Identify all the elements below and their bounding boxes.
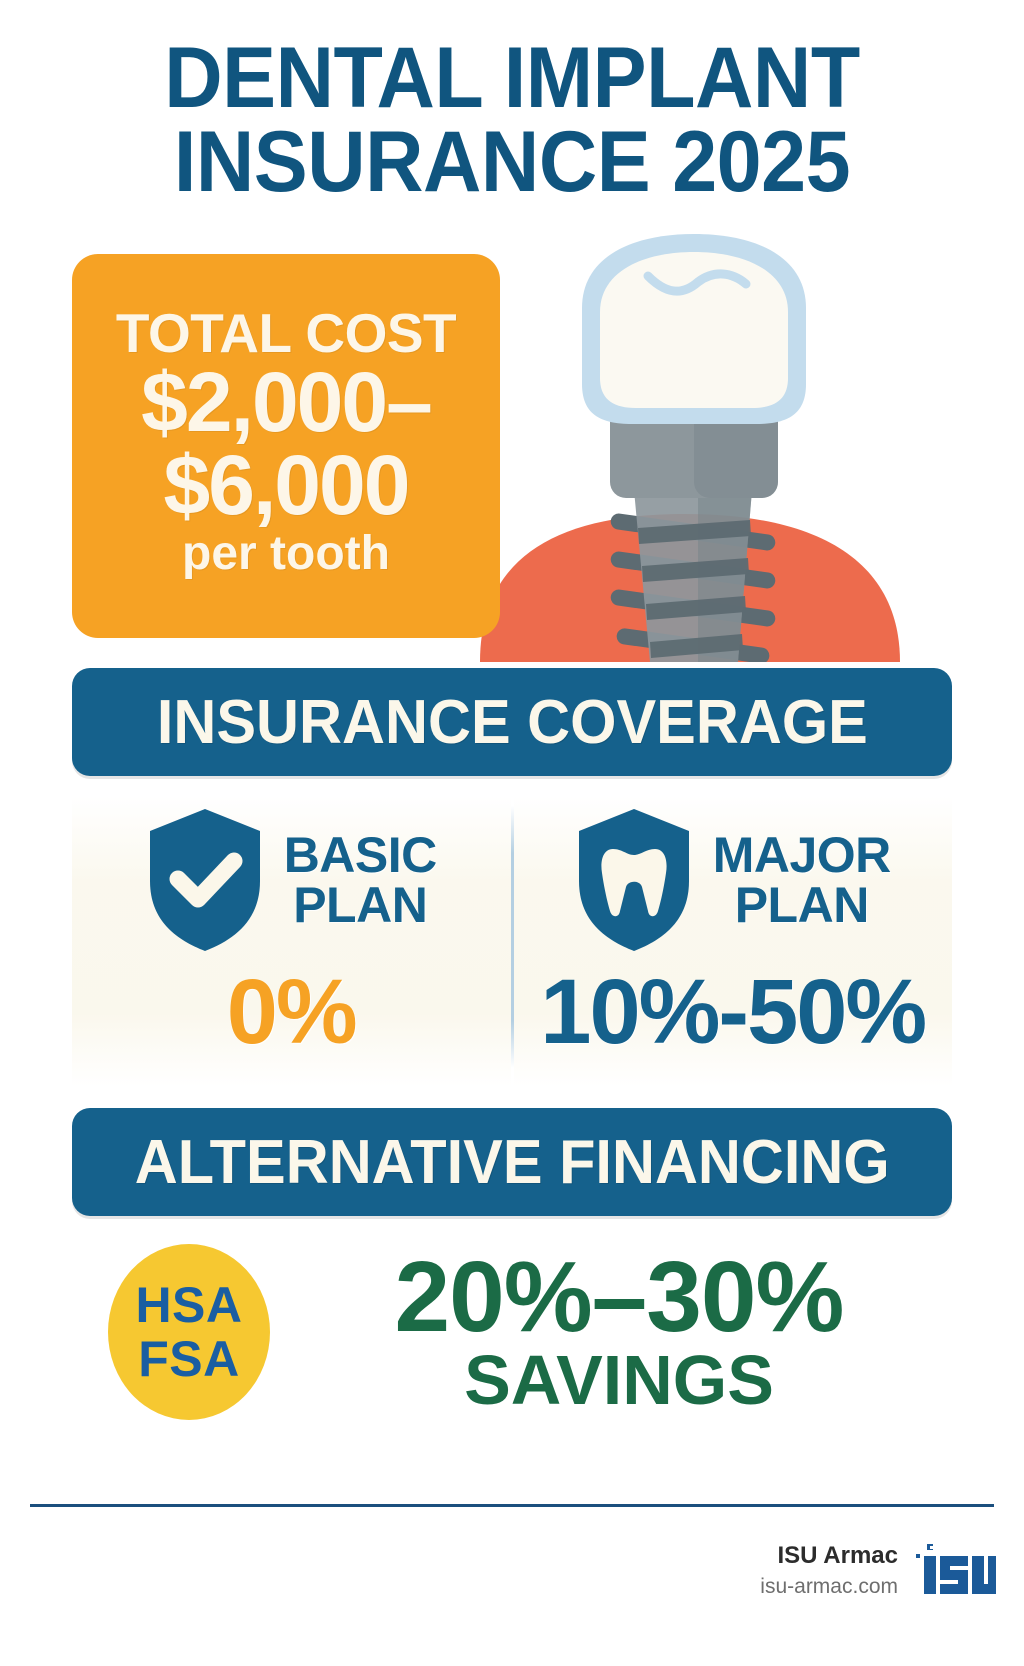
total-cost-label: TOTAL COST bbox=[116, 305, 456, 361]
plan-major-head: MAJOR PLAN bbox=[514, 796, 953, 964]
alternative-financing-banner: ALTERNATIVE FINANCING bbox=[72, 1108, 952, 1216]
shield-check-icon bbox=[146, 807, 264, 953]
shield-tooth-icon bbox=[575, 807, 693, 953]
isu-logo-icon bbox=[914, 1542, 998, 1598]
page-title: DENTAL IMPLANT INSURANCE 2025 bbox=[0, 36, 1024, 205]
savings-block: 20%–30% SAVINGS bbox=[286, 1249, 952, 1415]
financing-section: HSA FSA 20%–30% SAVINGS bbox=[72, 1232, 952, 1432]
plan-basic-name: BASIC PLAN bbox=[284, 830, 437, 930]
plan-major-value: 10%-50% bbox=[540, 966, 925, 1058]
total-cost-range-line-2: $6,000 bbox=[164, 444, 409, 526]
footer-website[interactable]: isu-armac.com bbox=[760, 1572, 898, 1602]
title-line-2: INSURANCE 2025 bbox=[31, 120, 994, 204]
savings-range: 20%–30% bbox=[395, 1249, 844, 1345]
implant-svg bbox=[470, 232, 910, 662]
dental-implant-illustration bbox=[470, 232, 910, 662]
footer: ISU Armac isu-armac.com bbox=[0, 1528, 1024, 1648]
title-line-1: DENTAL IMPLANT bbox=[31, 36, 994, 120]
insurance-coverage-banner-text: INSURANCE COVERAGE bbox=[156, 687, 867, 758]
footer-brand-name: ISU Armac bbox=[760, 1540, 898, 1572]
infographic-poster: DENTAL IMPLANT INSURANCE 2025 bbox=[0, 0, 1024, 1666]
footer-text-block: ISU Armac isu-armac.com bbox=[760, 1528, 898, 1603]
hsa-fsa-badge: HSA FSA bbox=[108, 1244, 270, 1420]
hsa-badge-line-1: HSA bbox=[135, 1278, 242, 1332]
plan-card-major: MAJOR PLAN 10%-50% bbox=[514, 796, 953, 1086]
total-cost-card: TOTAL COST $2,000– $6,000 per tooth bbox=[72, 254, 500, 638]
plan-major-name-line-2: PLAN bbox=[735, 877, 869, 933]
hero-section: TOTAL COST $2,000– $6,000 per tooth bbox=[0, 232, 1024, 662]
insurance-coverage-banner: INSURANCE COVERAGE bbox=[72, 668, 952, 776]
plan-basic-name-line-2: PLAN bbox=[293, 877, 427, 933]
total-cost-unit: per tooth bbox=[182, 528, 390, 581]
plan-basic-head: BASIC PLAN bbox=[72, 796, 511, 964]
plan-basic-value: 0% bbox=[227, 966, 356, 1058]
savings-label: SAVINGS bbox=[464, 1345, 774, 1415]
total-cost-range-line-1: $2,000– bbox=[141, 361, 431, 443]
plans-section: BASIC PLAN 0% MAJOR PLAN 10%-50% bbox=[72, 796, 952, 1086]
plan-major-name: MAJOR PLAN bbox=[713, 830, 891, 930]
plan-card-basic: BASIC PLAN 0% bbox=[72, 796, 511, 1086]
plan-basic-name-line-1: BASIC bbox=[284, 827, 437, 883]
footer-divider bbox=[30, 1504, 994, 1507]
alternative-financing-banner-text: ALTERNATIVE FINANCING bbox=[134, 1127, 889, 1198]
plan-major-name-line-1: MAJOR bbox=[713, 827, 891, 883]
hsa-badge-line-2: FSA bbox=[138, 1332, 240, 1386]
